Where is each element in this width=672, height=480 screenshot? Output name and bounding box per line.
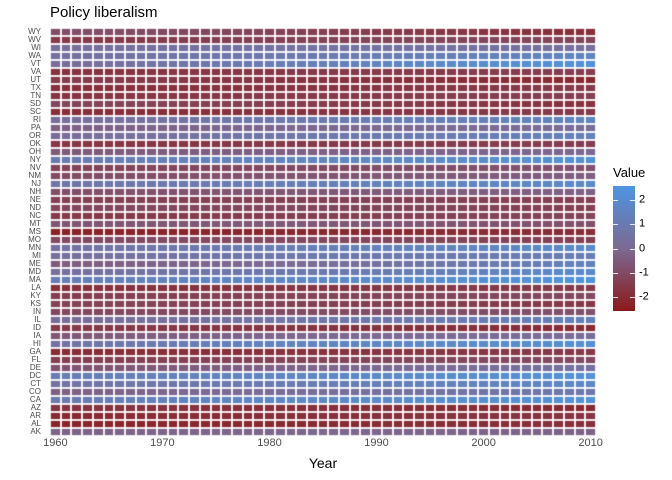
legend-tick-mark (613, 224, 618, 225)
y-axis: WYWVWIWAVTVAUTTXTNSDSCRIPAOROKOHNYNVNMNJ… (0, 28, 46, 436)
legend-tick-label: 2 (639, 195, 645, 206)
x-tick-label: 2010 (578, 437, 602, 450)
x-tick-label: 1970 (150, 437, 174, 450)
legend: Value 210-1-2 (610, 165, 672, 325)
legend-tick-label: 1 (639, 219, 645, 230)
legend-tick-label: 0 (639, 243, 645, 254)
legend-tick-mark (630, 200, 635, 201)
legend-tick-mark (613, 200, 618, 201)
heatmap-canvas[interactable] (50, 28, 596, 436)
legend-tick-mark (630, 297, 635, 298)
x-axis-title: Year (50, 455, 596, 471)
legend-tick-mark (613, 273, 618, 274)
page-title: Policy liberalism (50, 4, 158, 21)
legend-tick-label: -1 (639, 267, 649, 278)
x-tick-label: 1990 (364, 437, 388, 450)
x-tick-label: 1980 (257, 437, 281, 450)
legend-tick-mark (630, 273, 635, 274)
y-tick-label: AK (30, 428, 41, 436)
legend-tick-mark (630, 224, 635, 225)
legend-tick-mark (630, 249, 635, 250)
legend-tick-label: -2 (639, 291, 649, 302)
legend-title: Value (613, 165, 645, 180)
x-axis: 196019701980199020002010 (50, 437, 596, 455)
x-tick-label: 1960 (43, 437, 67, 450)
legend-tick-mark (613, 249, 618, 250)
heatmap-panel[interactable] (50, 28, 596, 436)
legend-tick-mark (613, 297, 618, 298)
x-tick-label: 2000 (471, 437, 495, 450)
